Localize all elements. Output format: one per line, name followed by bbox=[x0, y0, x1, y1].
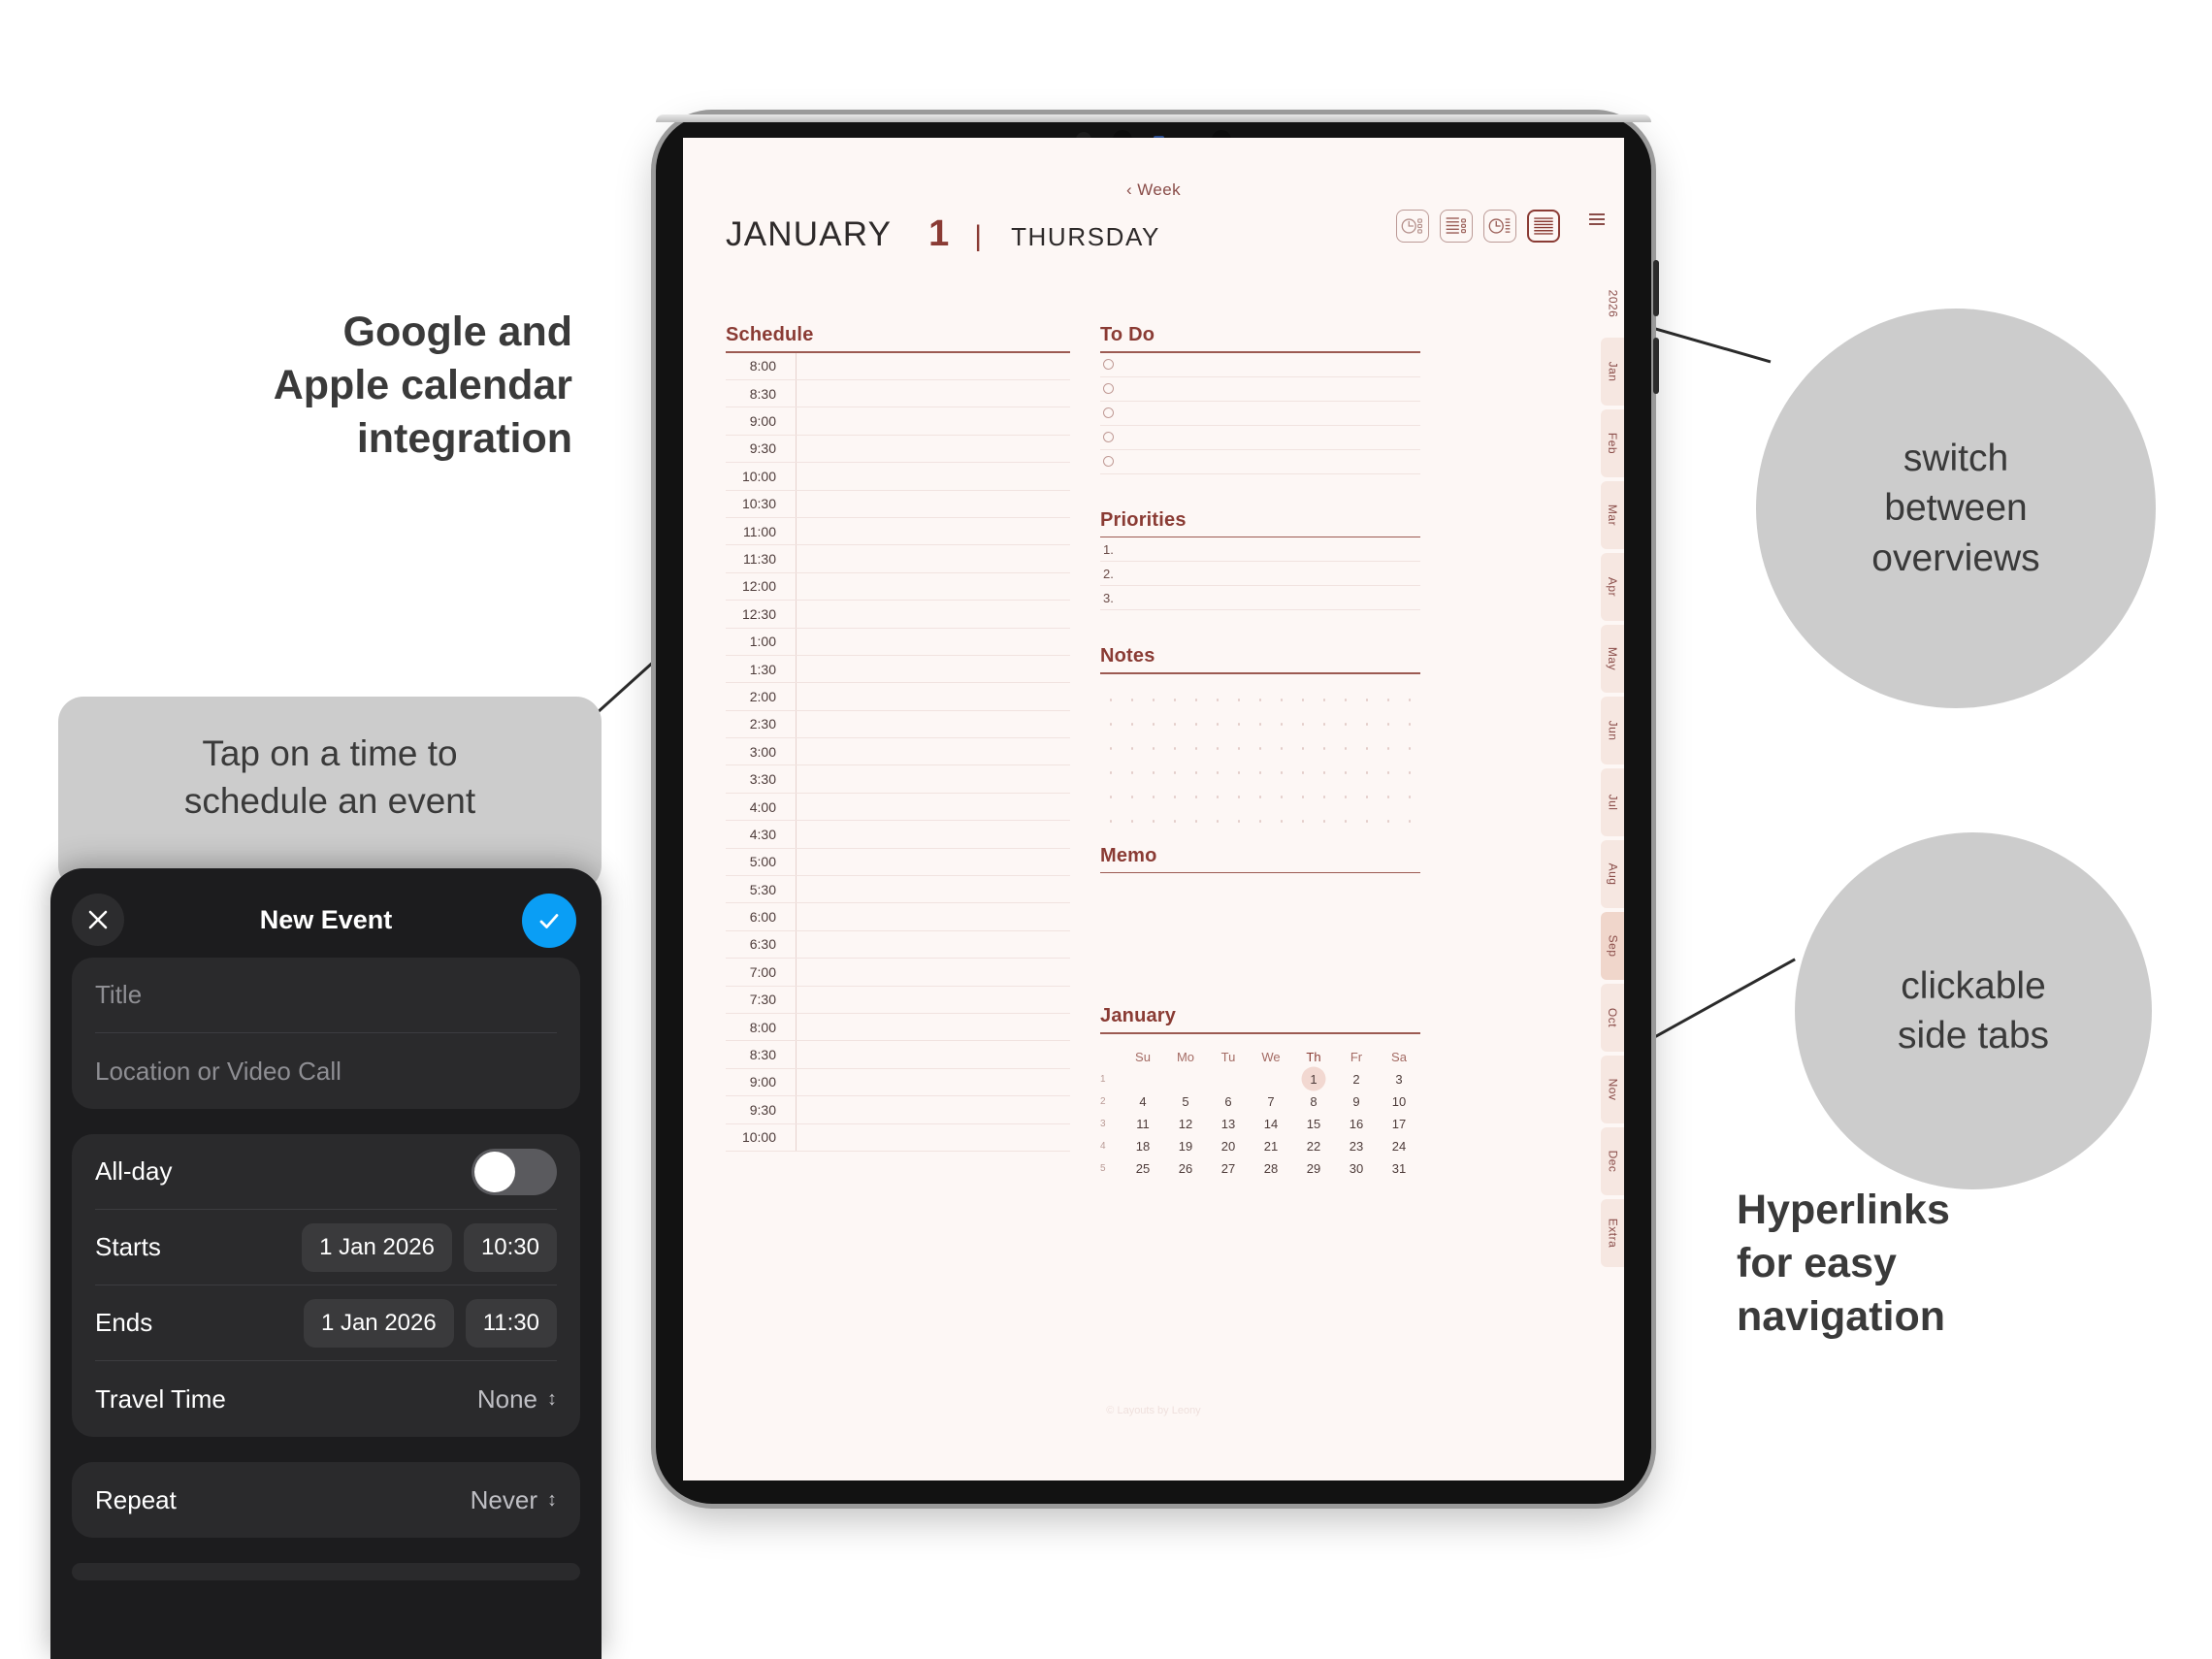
notes-dot bbox=[1345, 747, 1348, 750]
schedule-row[interactable]: 9:30 bbox=[726, 1096, 1070, 1123]
todo-row[interactable] bbox=[1100, 450, 1420, 474]
schedule-row[interactable]: 9:00 bbox=[726, 1069, 1070, 1096]
memo-writing-area[interactable] bbox=[1100, 873, 1420, 997]
side-tab-oct[interactable]: Oct bbox=[1601, 984, 1624, 1052]
page-title-month: JANUARY bbox=[726, 215, 892, 254]
schedule-row[interactable]: 9:00 bbox=[726, 407, 1070, 435]
schedule-divider bbox=[796, 629, 797, 655]
schedule-divider bbox=[796, 436, 797, 462]
notes-dot bbox=[1110, 723, 1113, 726]
todo-checkbox-icon[interactable] bbox=[1103, 432, 1114, 442]
annotation-line: integration bbox=[116, 412, 572, 466]
notes-dot bbox=[1345, 820, 1348, 823]
mini-calendar-day[interactable]: 28 bbox=[1250, 1161, 1292, 1176]
side-tab-aug[interactable]: Aug bbox=[1601, 840, 1624, 908]
notes-dot bbox=[1217, 699, 1220, 701]
notes-dot bbox=[1302, 796, 1305, 798]
starts-row[interactable]: Starts 1 Jan 2026 10:30 bbox=[95, 1210, 557, 1285]
schedule-row[interactable]: 7:00 bbox=[726, 959, 1070, 986]
schedule-divider bbox=[796, 1124, 797, 1151]
notes-dot bbox=[1174, 699, 1177, 701]
mini-calendar-day[interactable]: 20 bbox=[1207, 1139, 1250, 1154]
schedule-divider bbox=[796, 1014, 797, 1040]
mini-calendar-day-number: 17 bbox=[1392, 1117, 1406, 1131]
schedule-time-label: 10:00 bbox=[726, 1129, 786, 1145]
mini-calendar-week-number[interactable]: 1 bbox=[1100, 1074, 1122, 1085]
annotation-line: Hyperlinks bbox=[1737, 1184, 2154, 1237]
notes-dot bbox=[1259, 820, 1262, 823]
schedule-row[interactable]: 12:30 bbox=[726, 601, 1070, 628]
page-title-weekday: THURSDAY bbox=[1011, 222, 1160, 252]
mini-calendar-day[interactable]: 2 bbox=[1335, 1072, 1378, 1087]
schedule-row[interactable]: 5:30 bbox=[726, 876, 1070, 903]
notes-dot bbox=[1323, 747, 1326, 750]
new-event-header: New Event bbox=[50, 868, 602, 958]
mini-calendar-day[interactable]: 17 bbox=[1378, 1117, 1420, 1131]
schedule-divider bbox=[796, 987, 797, 1013]
event-title-field[interactable]: Title bbox=[95, 958, 557, 1033]
notes-dot bbox=[1387, 820, 1390, 823]
mini-calendar-day[interactable]: 15 bbox=[1292, 1117, 1335, 1131]
schedule-row[interactable]: 3:30 bbox=[726, 765, 1070, 793]
schedule-row[interactable]: 2:30 bbox=[726, 711, 1070, 738]
notes-dot bbox=[1409, 747, 1412, 750]
event-title-placeholder: Title bbox=[95, 980, 142, 1010]
notes-dot bbox=[1131, 771, 1134, 774]
priority-row[interactable]: 2. bbox=[1100, 562, 1420, 586]
mini-calendar-day-number: 9 bbox=[1352, 1094, 1359, 1109]
mini-calendar-day[interactable]: 8 bbox=[1292, 1094, 1335, 1109]
schedule-row[interactable]: 5:00 bbox=[726, 849, 1070, 876]
schedule-divider bbox=[796, 765, 797, 792]
notes-dot bbox=[1366, 723, 1369, 726]
notes-dot bbox=[1387, 747, 1390, 750]
view-mode-list-bullets-icon[interactable] bbox=[1440, 210, 1473, 243]
schedule-time-label: 2:30 bbox=[726, 716, 786, 732]
schedule-time-label: 8:00 bbox=[726, 1020, 786, 1035]
notes-dot bbox=[1259, 723, 1262, 726]
mini-calendar-day[interactable]: 27 bbox=[1207, 1161, 1250, 1176]
mini-calendar-day-number: 19 bbox=[1179, 1139, 1192, 1154]
mini-calendar-day[interactable]: 21 bbox=[1250, 1139, 1292, 1154]
notes-dot bbox=[1281, 771, 1284, 774]
schedule-time-label: 1:00 bbox=[726, 634, 786, 649]
mini-calendar-day[interactable]: 18 bbox=[1122, 1139, 1164, 1154]
mini-calendar-day-number: 23 bbox=[1350, 1139, 1363, 1154]
save-event-button[interactable] bbox=[522, 894, 576, 948]
notes-dot bbox=[1195, 796, 1198, 798]
schedule-row[interactable]: 6:00 bbox=[726, 903, 1070, 930]
annotation-hyperlinks-navigation: Hyperlinksfor easynavigation bbox=[1737, 1184, 2154, 1344]
todo-checkbox-icon[interactable] bbox=[1103, 456, 1114, 467]
callout-switch-text: switchbetweenoverviews bbox=[1846, 434, 2065, 583]
notes-dot bbox=[1259, 771, 1262, 774]
week-back-link[interactable]: ‹ Week bbox=[1126, 180, 1181, 200]
schedule-time-label: 9:30 bbox=[726, 1102, 786, 1118]
repeat-row[interactable]: Repeat Never ↕ bbox=[95, 1462, 557, 1538]
notes-dot bbox=[1366, 820, 1369, 823]
volume-down-button[interactable] bbox=[1653, 338, 1659, 394]
ends-date-button[interactable]: 1 Jan 2026 bbox=[304, 1299, 454, 1348]
starts-time-button[interactable]: 10:30 bbox=[464, 1223, 557, 1272]
annotation-line: switch bbox=[1871, 434, 2039, 483]
annotation-line: navigation bbox=[1737, 1290, 2154, 1344]
mini-calendar-day-number: 28 bbox=[1264, 1161, 1278, 1176]
side-tab-sep[interactable]: Sep bbox=[1601, 912, 1624, 980]
notes-dot bbox=[1345, 796, 1348, 798]
notes-dot bbox=[1409, 771, 1412, 774]
side-tab-jul[interactable]: Jul bbox=[1601, 768, 1624, 836]
schedule-row[interactable]: 11:00 bbox=[726, 518, 1070, 545]
mini-calendar-day-number: 8 bbox=[1310, 1094, 1317, 1109]
mini-calendar-day[interactable]: 31 bbox=[1378, 1161, 1420, 1176]
mini-calendar-day-number: 5 bbox=[1182, 1094, 1188, 1109]
side-tab-label: Jan bbox=[1606, 362, 1619, 382]
mini-calendar-day[interactable]: 24 bbox=[1378, 1139, 1420, 1154]
schedule-time-label: 7:30 bbox=[726, 992, 786, 1007]
schedule-row[interactable]: 1:00 bbox=[726, 629, 1070, 656]
notes-dot bbox=[1131, 747, 1134, 750]
todo-row[interactable] bbox=[1100, 353, 1420, 377]
notes-dot bbox=[1110, 771, 1113, 774]
notes-dot bbox=[1238, 699, 1241, 701]
tablet-bezel-highlight bbox=[656, 114, 1651, 122]
side-tab-nov[interactable]: Nov bbox=[1601, 1056, 1624, 1123]
mini-calendar-day-number: 6 bbox=[1224, 1094, 1231, 1109]
mini-calendar-week-number[interactable]: 2 bbox=[1100, 1096, 1122, 1107]
annotation-line: schedule an event bbox=[97, 777, 563, 825]
annotation-line: Google and bbox=[116, 306, 572, 359]
mini-calendar-day[interactable]: 10 bbox=[1378, 1094, 1420, 1109]
notes-dot bbox=[1238, 747, 1241, 750]
todo-checkbox-icon[interactable] bbox=[1103, 407, 1114, 418]
mini-calendar-day[interactable]: 22 bbox=[1292, 1139, 1335, 1154]
notes-dot bbox=[1238, 723, 1241, 726]
event-location-field[interactable]: Location or Video Call bbox=[95, 1033, 557, 1109]
mini-calendar-day[interactable]: 11 bbox=[1122, 1117, 1164, 1131]
stepper-chevron-icon: ↕ bbox=[547, 1388, 557, 1411]
starts-date-button[interactable]: 1 Jan 2026 bbox=[302, 1223, 452, 1272]
priorities-section: Priorities 1.2.3. bbox=[1100, 509, 1420, 611]
ends-label: Ends bbox=[95, 1308, 152, 1338]
schedule-time-label: 6:30 bbox=[726, 936, 786, 952]
schedule-time-label: 11:00 bbox=[726, 524, 786, 539]
all-day-row[interactable]: All-day bbox=[95, 1134, 557, 1210]
mini-calendar-day[interactable]: 1 bbox=[1292, 1072, 1335, 1087]
schedule-time-label: 4:00 bbox=[726, 799, 786, 815]
schedule-time-label: 12:00 bbox=[726, 578, 786, 594]
mini-calendar-day[interactable]: 29 bbox=[1292, 1161, 1335, 1176]
notes-dot bbox=[1195, 699, 1198, 701]
schedule-row[interactable]: 10:00 bbox=[726, 463, 1070, 490]
schedule-divider bbox=[796, 518, 797, 544]
mini-calendar-day-number: 20 bbox=[1221, 1139, 1235, 1154]
schedule-time-label: 10:30 bbox=[726, 496, 786, 511]
mini-calendar-day-number: 4 bbox=[1139, 1094, 1146, 1109]
repeat-value-group[interactable]: Never ↕ bbox=[471, 1485, 557, 1515]
mini-calendar-day-number: 25 bbox=[1136, 1161, 1150, 1176]
mini-calendar-day-number: 29 bbox=[1307, 1161, 1320, 1176]
repeat-value: Never bbox=[471, 1485, 537, 1515]
schedule-divider bbox=[796, 711, 797, 737]
notes-dot bbox=[1366, 771, 1369, 774]
todo-checkbox-icon[interactable] bbox=[1103, 383, 1114, 394]
schedule-row[interactable]: 10:30 bbox=[726, 491, 1070, 518]
notes-dot bbox=[1281, 723, 1284, 726]
side-tab-dec[interactable]: Dec bbox=[1601, 1127, 1624, 1195]
schedule-time-label: 7:00 bbox=[726, 964, 786, 980]
schedule-time-label: 9:30 bbox=[726, 440, 786, 456]
mini-calendar-day[interactable]: 30 bbox=[1335, 1161, 1378, 1176]
notes-dot bbox=[1153, 723, 1155, 726]
todo-row[interactable] bbox=[1100, 426, 1420, 450]
mini-calendar-day[interactable]: 7 bbox=[1250, 1094, 1292, 1109]
mini-calendar-day[interactable]: 16 bbox=[1335, 1117, 1378, 1131]
tablet-screen: ‹ Week JANUARY 1 | THURSDAY bbox=[683, 138, 1624, 1480]
view-mode-clock-dial-icon[interactable] bbox=[1396, 210, 1429, 243]
notes-dot bbox=[1153, 747, 1155, 750]
side-tab-label: Mar bbox=[1606, 504, 1619, 526]
schedule-row[interactable]: 7:30 bbox=[726, 987, 1070, 1014]
mini-calendar-week-row: 311121314151617 bbox=[1100, 1113, 1420, 1135]
annotation-line: clickable bbox=[1898, 961, 2049, 1011]
annotation-line: for easy bbox=[1737, 1237, 2154, 1290]
schedule-row[interactable]: 1:30 bbox=[726, 656, 1070, 683]
schedule-time-label: 10:00 bbox=[726, 469, 786, 484]
mini-calendar-day[interactable]: 13 bbox=[1207, 1117, 1250, 1131]
view-mode-lines-stack-icon[interactable] bbox=[1527, 210, 1560, 243]
notes-dot bbox=[1153, 796, 1155, 798]
side-tab-2026[interactable]: 2026 bbox=[1601, 274, 1624, 334]
schedule-time-label: 5:30 bbox=[726, 882, 786, 897]
schedule-row[interactable]: 4:30 bbox=[726, 821, 1070, 848]
schedule-row[interactable]: 6:30 bbox=[726, 931, 1070, 959]
memo-section: Memo bbox=[1100, 845, 1420, 998]
notes-dot-grid[interactable] bbox=[1100, 688, 1420, 833]
travel-time-value: None bbox=[477, 1384, 537, 1415]
todo-checkbox-icon[interactable] bbox=[1103, 359, 1114, 370]
schedule-divider bbox=[796, 931, 797, 958]
notes-dot bbox=[1131, 699, 1134, 701]
mini-calendar-title: January bbox=[1100, 1005, 1420, 1032]
mini-calendar-day-number: 30 bbox=[1350, 1161, 1363, 1176]
schedule-time-label: 8:00 bbox=[726, 358, 786, 374]
priority-row[interactable]: 3. bbox=[1100, 586, 1420, 610]
schedule-row[interactable]: 10:00 bbox=[726, 1124, 1070, 1152]
hamburger-bar bbox=[1589, 213, 1605, 215]
side-tab-label: Oct bbox=[1606, 1008, 1619, 1027]
volume-up-button[interactable] bbox=[1653, 260, 1659, 316]
schedule-row[interactable]: 3:00 bbox=[726, 738, 1070, 765]
side-tab-mar[interactable]: Mar bbox=[1601, 481, 1624, 549]
schedule-section: Schedule 8:008:309:009:3010:0010:3011:00… bbox=[726, 324, 1070, 1152]
mini-calendar-day[interactable]: 3 bbox=[1378, 1072, 1420, 1087]
schedule-row[interactable]: 9:30 bbox=[726, 436, 1070, 463]
schedule-divider bbox=[796, 794, 797, 820]
mini-calendar-day[interactable]: 26 bbox=[1164, 1161, 1207, 1176]
hamburger-bar bbox=[1589, 218, 1605, 220]
ends-time-button[interactable]: 11:30 bbox=[466, 1299, 557, 1348]
notes-dot bbox=[1409, 820, 1412, 823]
notes-dot bbox=[1323, 723, 1326, 726]
mini-calendar-dow: Su bbox=[1122, 1050, 1164, 1064]
schedule-row[interactable]: 8:30 bbox=[726, 380, 1070, 407]
side-tab-label: May bbox=[1606, 647, 1619, 670]
mini-calendar-day[interactable]: 25 bbox=[1122, 1161, 1164, 1176]
ends-value-group: 1 Jan 2026 11:30 bbox=[304, 1299, 557, 1348]
annotation-line: between bbox=[1871, 483, 2039, 533]
mini-calendar-day[interactable]: 5 bbox=[1164, 1094, 1207, 1109]
mini-calendar-day-number: 22 bbox=[1307, 1139, 1320, 1154]
side-tab-label: Dec bbox=[1606, 1151, 1619, 1173]
priority-row[interactable]: 1. bbox=[1100, 537, 1420, 562]
notes-dot bbox=[1345, 771, 1348, 774]
mini-calendar-day[interactable]: 6 bbox=[1207, 1094, 1250, 1109]
new-event-sheet: New Event Title Location or Video Call A… bbox=[50, 868, 602, 1659]
mini-calendar-dow: Th bbox=[1292, 1050, 1335, 1064]
todo-row[interactable] bbox=[1100, 402, 1420, 426]
schedule-time-label: 11:30 bbox=[726, 551, 786, 567]
mini-calendar-day[interactable]: 9 bbox=[1335, 1094, 1378, 1109]
notes-rule bbox=[1100, 672, 1420, 674]
travel-time-value-group[interactable]: None ↕ bbox=[477, 1384, 557, 1415]
notes-dot bbox=[1366, 747, 1369, 750]
event-extra-card bbox=[72, 1563, 580, 1580]
schedule-row[interactable]: 4:00 bbox=[726, 794, 1070, 821]
starts-value-group: 1 Jan 2026 10:30 bbox=[302, 1223, 557, 1272]
mini-calendar-grid: SuMoTuWeThFrSa11232456789103111213141516… bbox=[1100, 1046, 1420, 1180]
notes-dot bbox=[1387, 723, 1390, 726]
notes-dot bbox=[1259, 796, 1262, 798]
side-tab-label: Aug bbox=[1606, 863, 1619, 886]
schedule-row[interactable]: 8:30 bbox=[726, 1041, 1070, 1068]
schedule-divider bbox=[796, 959, 797, 985]
page-title-row: JANUARY 1 | THURSDAY bbox=[726, 213, 1160, 255]
mini-calendar-week-number[interactable]: 3 bbox=[1100, 1119, 1122, 1129]
schedule-row[interactable]: 12:00 bbox=[726, 573, 1070, 601]
mini-calendar-day-number: 2 bbox=[1352, 1072, 1359, 1087]
notes-dot bbox=[1409, 699, 1412, 701]
side-tab-jan[interactable]: Jan bbox=[1601, 338, 1624, 406]
schedule-divider bbox=[796, 849, 797, 875]
notes-dot bbox=[1217, 747, 1220, 750]
hamburger-bar bbox=[1589, 223, 1605, 225]
side-tab-label: Feb bbox=[1606, 433, 1619, 454]
mini-calendar-week-number[interactable]: 4 bbox=[1100, 1141, 1122, 1152]
callout-switch-between-overviews: switchbetweenoverviews bbox=[1756, 309, 2156, 708]
notes-dot bbox=[1174, 820, 1177, 823]
notes-dot bbox=[1302, 747, 1305, 750]
notes-dot bbox=[1174, 723, 1177, 726]
schedule-time-label: 2:00 bbox=[726, 689, 786, 704]
all-day-toggle[interactable] bbox=[472, 1149, 557, 1195]
list-bullets-glyph bbox=[1441, 211, 1472, 242]
annotation-line: Apple calendar bbox=[116, 359, 572, 412]
notes-dot bbox=[1131, 723, 1134, 726]
notes-dot bbox=[1238, 796, 1241, 798]
ends-row[interactable]: Ends 1 Jan 2026 11:30 bbox=[95, 1285, 557, 1361]
mini-calendar-day-number: 1 bbox=[1310, 1072, 1317, 1087]
event-repeat-card: Repeat Never ↕ bbox=[72, 1462, 580, 1538]
mini-calendar-day-number: 14 bbox=[1264, 1117, 1278, 1131]
schedule-divider bbox=[796, 738, 797, 764]
mini-calendar-day-number: 21 bbox=[1264, 1139, 1278, 1154]
hamburger-menu-icon[interactable] bbox=[1589, 213, 1605, 228]
notes-dot bbox=[1238, 820, 1241, 823]
view-mode-toolbar bbox=[1396, 210, 1560, 243]
schedule-row[interactable]: 11:30 bbox=[726, 545, 1070, 572]
notes-dot bbox=[1259, 699, 1262, 701]
todo-rows bbox=[1100, 353, 1420, 474]
mini-calendar-week-number[interactable]: 5 bbox=[1100, 1163, 1122, 1174]
callout-clickable-side-tabs: clickableside tabs bbox=[1795, 832, 2152, 1189]
schedule-row[interactable]: 8:00 bbox=[726, 1014, 1070, 1041]
schedule-row[interactable]: 2:00 bbox=[726, 683, 1070, 710]
schedule-time-label: 12:30 bbox=[726, 606, 786, 622]
priorities-title: Priorities bbox=[1100, 509, 1420, 537]
mini-calendar-week-row: 525262728293031 bbox=[1100, 1157, 1420, 1180]
side-tab-label: Jul bbox=[1606, 795, 1619, 811]
schedule-divider bbox=[796, 407, 797, 434]
mini-calendar-dow: Fr bbox=[1335, 1050, 1378, 1064]
mini-calendar-day-number: 11 bbox=[1136, 1117, 1150, 1131]
lines-stack-glyph bbox=[1529, 211, 1558, 241]
repeat-label: Repeat bbox=[95, 1485, 177, 1515]
mini-calendar-day-number: 27 bbox=[1221, 1161, 1235, 1176]
notes-dot bbox=[1110, 796, 1113, 798]
mini-calendar-day-number: 7 bbox=[1267, 1094, 1274, 1109]
notes-dot bbox=[1323, 771, 1326, 774]
mini-calendar-day[interactable]: 23 bbox=[1335, 1139, 1378, 1154]
schedule-divider bbox=[796, 903, 797, 929]
side-tab-jun[interactable]: Jun bbox=[1601, 697, 1624, 764]
side-tab-extra[interactable]: Extra bbox=[1601, 1199, 1624, 1267]
notes-dot bbox=[1195, 747, 1198, 750]
todo-row[interactable] bbox=[1100, 377, 1420, 402]
view-mode-clock-lines-icon[interactable] bbox=[1483, 210, 1516, 243]
mini-calendar-day[interactable]: 12 bbox=[1164, 1117, 1207, 1131]
side-tab-may[interactable]: May bbox=[1601, 625, 1624, 693]
notes-dot bbox=[1174, 747, 1177, 750]
todo-section: To Do bbox=[1100, 324, 1420, 474]
side-tab-label: 2026 bbox=[1606, 290, 1619, 318]
side-tab-feb[interactable]: Feb bbox=[1601, 409, 1624, 477]
annotation-line: overviews bbox=[1871, 534, 2039, 583]
schedule-divider bbox=[796, 491, 797, 517]
mini-calendar-day[interactable]: 14 bbox=[1250, 1117, 1292, 1131]
annotation-line: Tap on a time to bbox=[97, 730, 563, 777]
schedule-row[interactable]: 8:00 bbox=[726, 353, 1070, 380]
notes-dot bbox=[1345, 699, 1348, 701]
notes-dot bbox=[1217, 723, 1220, 726]
annotation-google-apple-calendar: Google andApple calendarintegration bbox=[116, 306, 572, 466]
notes-dot bbox=[1387, 796, 1390, 798]
notes-dot bbox=[1302, 723, 1305, 726]
schedule-divider bbox=[796, 1096, 797, 1122]
side-tab-apr[interactable]: Apr bbox=[1601, 553, 1624, 621]
notes-dot bbox=[1131, 796, 1134, 798]
travel-time-row[interactable]: Travel Time None ↕ bbox=[95, 1361, 557, 1437]
mini-calendar-day[interactable]: 4 bbox=[1122, 1094, 1164, 1109]
schedule-time-label: 3:00 bbox=[726, 744, 786, 760]
notes-dot bbox=[1323, 820, 1326, 823]
schedule-time-label: 9:00 bbox=[726, 413, 786, 429]
notes-dot bbox=[1110, 699, 1113, 701]
notes-dot bbox=[1281, 796, 1284, 798]
mini-calendar-header-row: SuMoTuWeThFrSa bbox=[1100, 1046, 1420, 1068]
mini-calendar-day[interactable]: 19 bbox=[1164, 1139, 1207, 1154]
schedule-divider bbox=[796, 683, 797, 709]
